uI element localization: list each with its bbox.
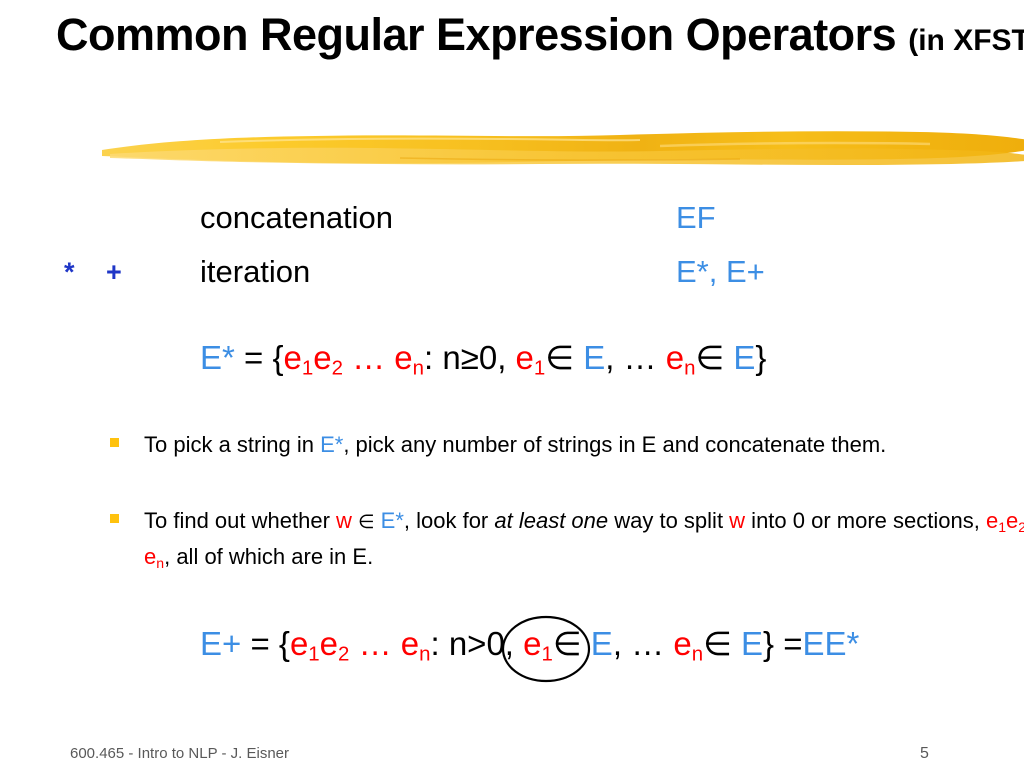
operator-name-concatenation: concatenation (200, 198, 393, 238)
eq-star-lhs: E* (200, 339, 235, 376)
inline-emphasis: at least one (494, 508, 608, 533)
eq-star-equals: = { (235, 339, 284, 376)
eq-plus-in-2: ∈ (703, 625, 741, 662)
eq-plus-tail: EE* (802, 625, 859, 662)
title-underline-brushstroke (100, 128, 1024, 168)
eq-star-terms: e1e2 … en (284, 339, 425, 376)
inline-w-1: w (336, 508, 352, 533)
eq-star-set-1: E (583, 339, 605, 376)
equation-e-plus: E+ = {e1e2 … en: n>0, e1∈ E, … en∈ E} =E… (200, 622, 859, 677)
inline-w-2: w (729, 508, 745, 533)
eq-plus-close: } = (763, 625, 802, 662)
inline-e-star: E* (381, 508, 404, 533)
operator-row-iteration: * + iteration E*, E+ (0, 252, 1024, 296)
inline-e-star: E* (320, 432, 343, 457)
eq-plus-condition: : n>0, (430, 625, 523, 662)
eq-star-member-1: e1 (516, 339, 546, 376)
eq-star-set-2: E (733, 339, 755, 376)
list-item: To find out whether w ∈ E*, look for at … (110, 506, 1024, 578)
eq-plus-mid: , … (613, 625, 674, 662)
operator-name-iteration: iteration (200, 252, 310, 292)
list-item: To pick a string in E*, pick any number … (110, 430, 1024, 459)
operator-expression-iteration: E*, E+ (676, 252, 765, 292)
eq-plus-member-1: e1 (523, 625, 553, 662)
operator-expression-concatenation: EF (676, 198, 716, 238)
eq-plus-lhs: E+ (200, 625, 241, 662)
bullet-square-icon (110, 514, 119, 523)
footer-course-label: 600.465 - Intro to NLP - J. Eisner (70, 745, 289, 762)
eq-star-condition: : n≥0, (424, 339, 516, 376)
equation-e-star: E* = {e1e2 … en: n≥0, e1∈ E, … en∈ E} (200, 336, 766, 391)
page-title-main: Common Regular Expression Operators (56, 9, 908, 60)
eq-star-mid: , … (605, 339, 666, 376)
eq-plus-member-2: en (673, 625, 703, 662)
page-title-subtitle: (in XFST notation) (908, 24, 1024, 57)
list-item-text: To find out whether w ∈ E*, look for at … (144, 506, 1024, 578)
eq-plus-equals: = { (241, 625, 290, 662)
eq-plus-in-1: ∈ (553, 625, 591, 662)
operator-symbols-iteration: * + (64, 252, 134, 292)
bullet-square-icon (110, 438, 119, 447)
eq-plus-terms: e1e2 … en (290, 625, 431, 662)
eq-star-in-2: ∈ (695, 339, 733, 376)
eq-star-close: } (755, 339, 766, 376)
page-title: Common Regular Expression Operators (in … (56, 8, 1016, 68)
eq-star-member-2: en (666, 339, 696, 376)
list-item-text: To pick a string in E*, pick any number … (144, 430, 1024, 459)
operator-row-concatenation: concatenation EF (0, 198, 1024, 242)
eq-star-in-1: ∈ (545, 339, 583, 376)
eq-plus-set-1: E (591, 625, 613, 662)
eq-plus-set-2: E (741, 625, 763, 662)
footer-page-number: 5 (920, 745, 929, 763)
